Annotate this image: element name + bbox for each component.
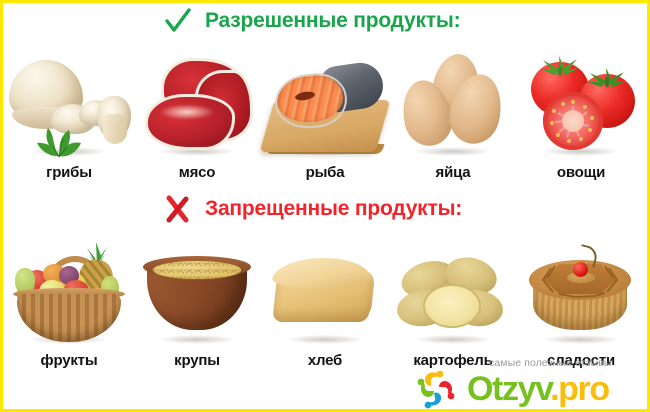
allowed-section-header: Разрешенные продукты:: [165, 7, 460, 35]
product-cell-meat: мясо: [133, 33, 261, 181]
product-label-vegetables: овощи: [557, 164, 605, 181]
meat-marbling: [159, 104, 215, 120]
infographic-poster: Разрешенные продукты:: [0, 0, 650, 412]
product-label-meat: мясо: [179, 164, 216, 181]
raw-meat-image: [133, 48, 261, 160]
product-label-potatoes: картофель: [413, 352, 492, 369]
product-cell-bread: хлеб: [261, 221, 389, 369]
product-cell-mushrooms: грибы: [5, 33, 133, 181]
grain-texture: [153, 261, 241, 279]
honey-cake-image: [517, 236, 645, 348]
product-cell-fish: рыба: [261, 33, 389, 181]
product-label-bread: хлеб: [308, 352, 342, 369]
drop-shadow: [414, 147, 492, 156]
product-cell-potatoes: картофель: [389, 221, 517, 369]
tomato-stem-icon-left: [537, 54, 583, 78]
drop-shadow: [414, 335, 492, 344]
logo-wordmark-suffix: .pro: [550, 370, 609, 408]
product-cell-eggs: яйца: [389, 33, 517, 181]
potato-cut-half: [425, 286, 479, 326]
product-label-fish: рыба: [306, 164, 345, 181]
forbidden-section-title: Запрещенные продукты:: [205, 197, 462, 221]
cherry-topping: [573, 262, 588, 277]
product-label-mushrooms: грибы: [46, 164, 92, 181]
mushroom-stem: [103, 114, 127, 144]
allowed-section-title: Разрешенные продукты:: [205, 9, 460, 33]
product-label-eggs: яйца: [436, 164, 471, 181]
product-cell-vegetables: овощи: [517, 33, 645, 181]
eggs-image: [389, 48, 517, 160]
otzyv-pro-logo[interactable]: Otzyv.pro: [417, 369, 609, 409]
forbidden-products-row: фрукты крупы хлеб: [3, 221, 647, 369]
tomato-half-cut: [543, 92, 603, 150]
product-cell-grains: крупы: [133, 221, 261, 369]
drop-shadow: [158, 335, 236, 344]
grain-bowl-image: [133, 236, 261, 348]
mushrooms-image: [5, 48, 133, 160]
parsley-garnish-icon: [29, 120, 91, 158]
forbidden-section-header: Запрещенные продукты:: [165, 195, 462, 223]
tomato-stem-icon-right: [585, 66, 631, 90]
tomatoes-image: [517, 48, 645, 160]
product-cell-sweets: сладости: [517, 221, 645, 369]
basket-body: [17, 294, 121, 342]
allowed-products-row: грибы мясо рыба: [3, 33, 647, 181]
product-cell-fruits: фрукты: [5, 221, 133, 369]
logo-wordmark: Otzyv.pro: [467, 372, 609, 406]
fruit-basket-image: [5, 236, 133, 348]
cross-mark-icon: [165, 195, 191, 223]
bread-loaf-image: [261, 236, 389, 348]
drop-shadow: [542, 335, 620, 344]
drop-shadow: [286, 335, 364, 344]
potatoes-image: [389, 236, 517, 348]
product-label-grains: крупы: [174, 352, 220, 369]
watermark-tagline: самые полезные отзывы: [489, 357, 612, 369]
bread-crust-top: [271, 258, 372, 288]
product-label-fruits: фрукты: [41, 352, 98, 369]
people-swirl-logo-icon: [417, 369, 463, 409]
meat-piece-front: [145, 94, 235, 150]
logo-wordmark-name: Otzyv: [467, 370, 550, 408]
tomato-core: [562, 110, 584, 132]
check-mark-icon: [165, 7, 191, 35]
salmon-on-cutting-board-image: [261, 48, 389, 160]
